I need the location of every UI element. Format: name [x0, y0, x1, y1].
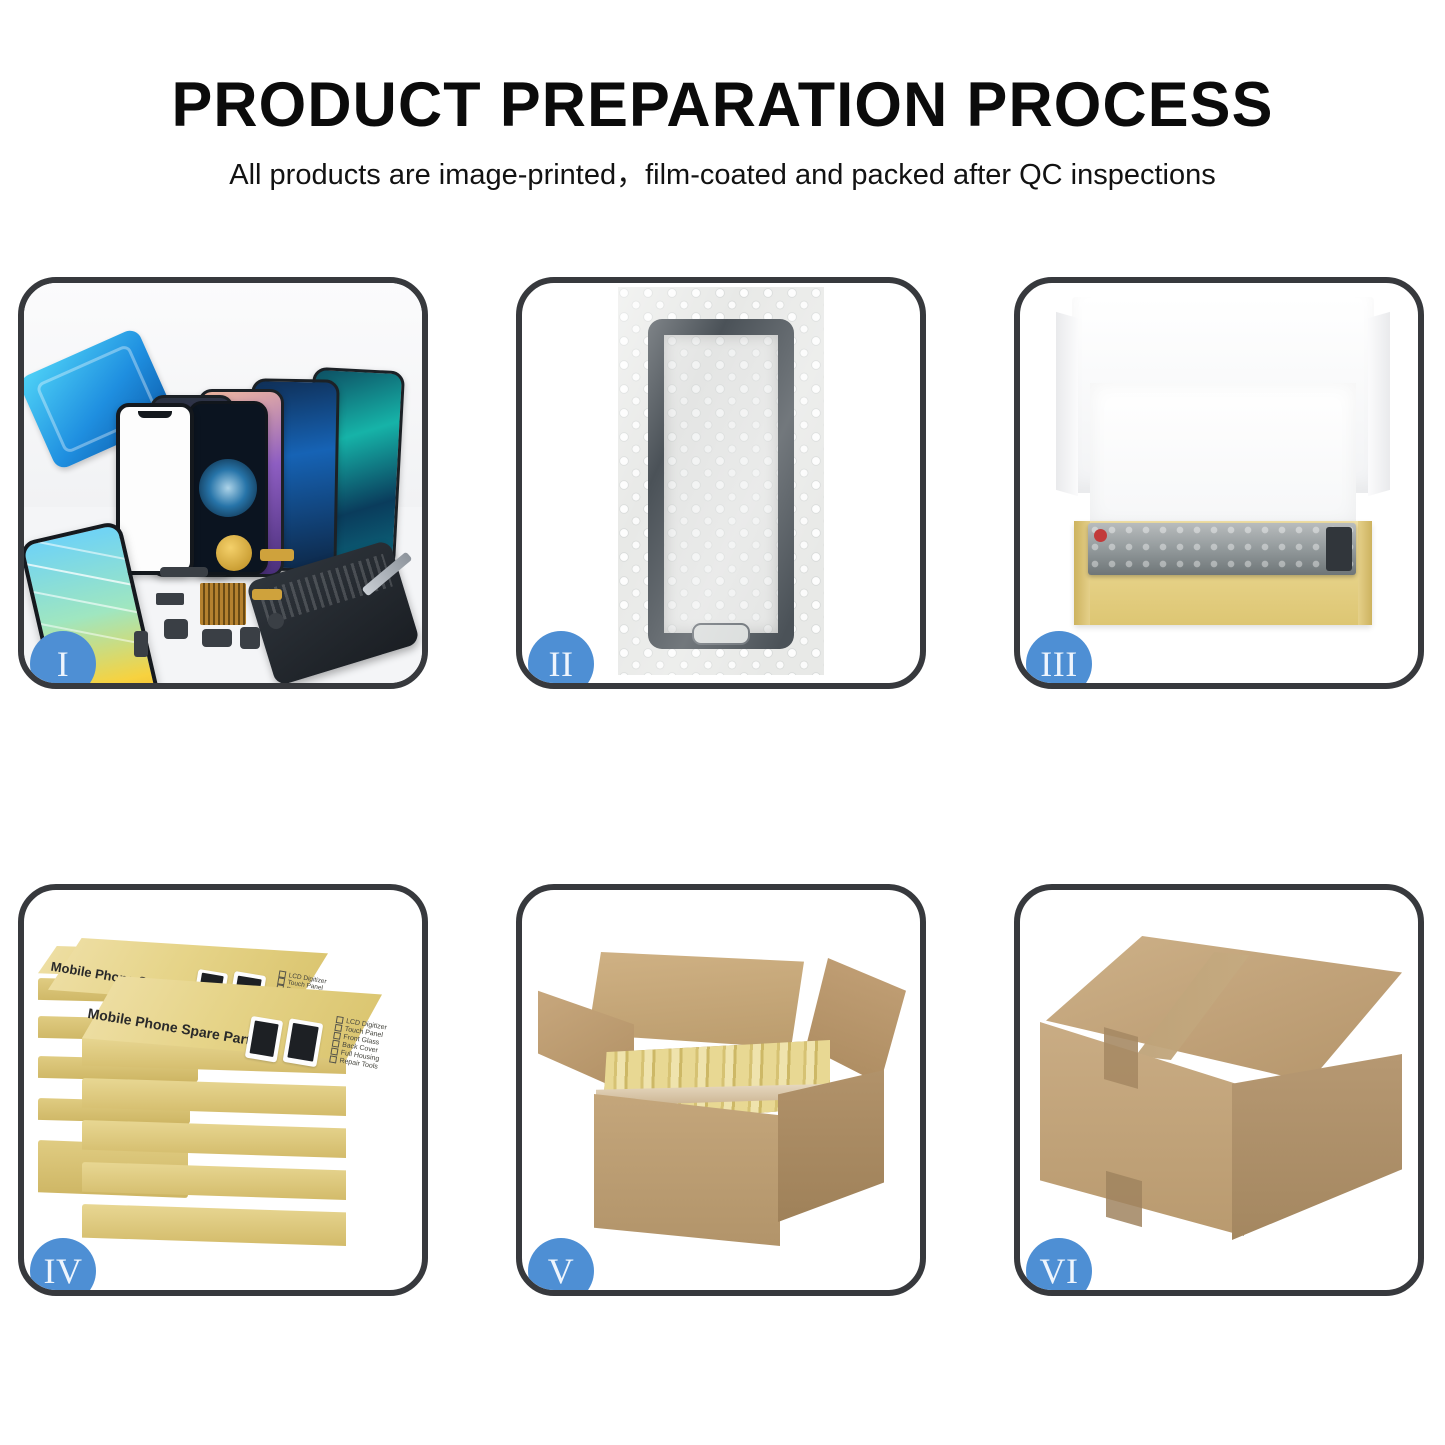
box-screen-image-2b	[283, 1018, 324, 1067]
flex-cable-part-1	[260, 549, 294, 561]
step-numeral-5: V	[548, 1253, 575, 1289]
step-5-illustration	[522, 890, 920, 1290]
speaker-coil-part	[216, 535, 252, 571]
box-screen-image-2a	[245, 1016, 283, 1063]
carton-tape-tab-bottom	[1106, 1171, 1142, 1227]
vibrator-part	[202, 629, 232, 647]
bubble-wrapped-screen	[618, 287, 824, 675]
step-badge-6: VI	[1026, 1238, 1092, 1296]
open-carton	[540, 944, 900, 1258]
home-button-part	[268, 613, 284, 629]
red-marker-dot	[1094, 529, 1107, 542]
step-numeral-2: II	[549, 646, 574, 682]
step-panel-5[interactable]: V	[516, 884, 926, 1296]
step-numeral-4: IV	[44, 1253, 83, 1289]
step-numeral-3: III	[1040, 646, 1077, 682]
carton-tape-tab-top	[1104, 1027, 1138, 1089]
connector-chip-part	[200, 583, 246, 625]
carton-side-face	[778, 1070, 884, 1222]
box-brand-text-2: Mobile Phone Spare Parts	[87, 1005, 260, 1049]
sim-tray-part	[156, 593, 184, 605]
carton-front-face	[594, 1094, 780, 1246]
carton-side-face	[1232, 1054, 1402, 1240]
packed-screen	[1088, 523, 1356, 575]
flex-cable-part-2	[252, 589, 282, 600]
process-step-grid: I II III	[0, 0, 1445, 1445]
step-panel-4[interactable]: Mobile Phone Spare Parts LCD Digitizer T…	[18, 884, 428, 1296]
step-numeral-1: I	[57, 646, 70, 682]
foam-insert	[1090, 383, 1356, 525]
step-3-illustration	[1020, 283, 1418, 683]
step-1-illustration	[24, 283, 422, 683]
button-part	[240, 627, 260, 649]
front-glass-panel	[116, 403, 194, 575]
step-numeral-6: VI	[1040, 1253, 1079, 1289]
step-badge-1: I	[30, 631, 96, 689]
step-panel-2[interactable]: II	[516, 277, 926, 689]
box-front-side-5	[82, 1204, 382, 1246]
step-badge-2: II	[528, 631, 594, 689]
earpiece-mesh-part	[160, 567, 208, 577]
step-2-illustration	[522, 283, 920, 683]
camera-module-part	[164, 619, 188, 639]
step-panel-1[interactable]: I	[18, 277, 428, 689]
step-panel-6[interactable]: VI	[1014, 884, 1424, 1296]
step-badge-3: III	[1026, 631, 1092, 689]
step-panel-3[interactable]: III	[1014, 277, 1424, 689]
small-screw-part	[134, 631, 148, 657]
step-4-illustration: Mobile Phone Spare Parts LCD Digitizer T…	[24, 890, 422, 1290]
retail-box-stack: Mobile Phone Spare Parts LCD Digitizer T…	[38, 920, 404, 1268]
sealed-carton	[1040, 936, 1402, 1240]
screen-connector	[1326, 527, 1352, 571]
step-6-illustration	[1020, 890, 1418, 1290]
step-badge-5: V	[528, 1238, 594, 1296]
wrap-gloss	[618, 287, 824, 675]
step-badge-4: IV	[30, 1238, 96, 1296]
